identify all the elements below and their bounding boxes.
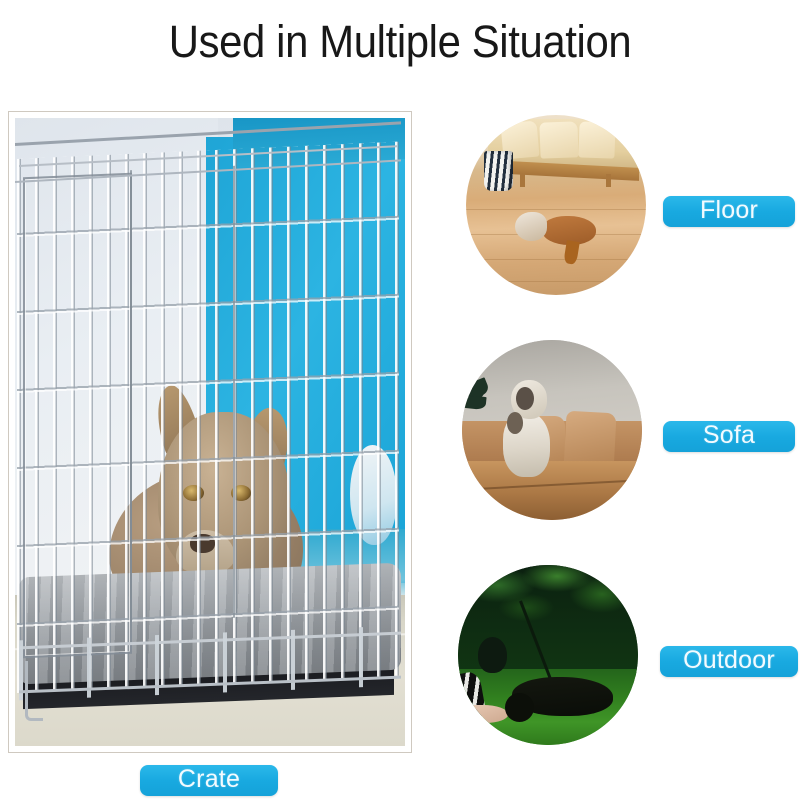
- floor-scene-plank-line: [466, 281, 646, 282]
- sofa-scene: [462, 340, 642, 520]
- crate-padded-mat: [19, 563, 401, 684]
- floor-scene-striped-mug: [484, 151, 513, 191]
- label-badge-floor: Floor: [663, 196, 795, 227]
- outdoor-scene-person-head: [478, 637, 507, 673]
- crate-dog-nose: [190, 534, 215, 552]
- label-badge-outdoor: Outdoor: [660, 646, 798, 677]
- page-title: Used in Multiple Situation: [28, 14, 772, 70]
- floor-scene-plank-line: [466, 209, 646, 210]
- outdoor-scene-dog-head: [505, 693, 534, 722]
- outdoor-scene: [458, 565, 638, 745]
- sofa-scene-seat: [462, 461, 642, 520]
- floor-scene-sofa-leg: [520, 174, 525, 187]
- crate-dog-eye-right: [231, 485, 251, 501]
- situation-photo-floor: [466, 115, 646, 295]
- outdoor-scene-person-arm: [458, 705, 508, 723]
- main-photo-frame: [8, 111, 412, 753]
- sofa-scene-leaf: [464, 394, 486, 409]
- crate-dog-eye-left: [183, 485, 203, 501]
- floor-scene-dog-leg: [563, 240, 579, 265]
- floor-scene-dog-head: [515, 212, 547, 241]
- situation-photo-outdoor: [458, 565, 638, 745]
- main-photo-crate: [15, 118, 405, 746]
- floor-scene-cushion: [579, 122, 616, 159]
- sofa-scene-dog-marking: [507, 412, 523, 434]
- floor-scene-cushion: [539, 122, 578, 159]
- floor-scene-plank-line: [466, 259, 646, 260]
- label-badge-sofa: Sofa: [663, 421, 795, 452]
- label-badge-crate: Crate: [140, 765, 278, 796]
- floor-scene-sofa-leg: [606, 174, 611, 187]
- floor-scene: [466, 115, 646, 295]
- sofa-scene-plant: [462, 380, 509, 427]
- situation-photo-sofa: [462, 340, 642, 520]
- sofa-scene-dog-marking: [516, 387, 534, 410]
